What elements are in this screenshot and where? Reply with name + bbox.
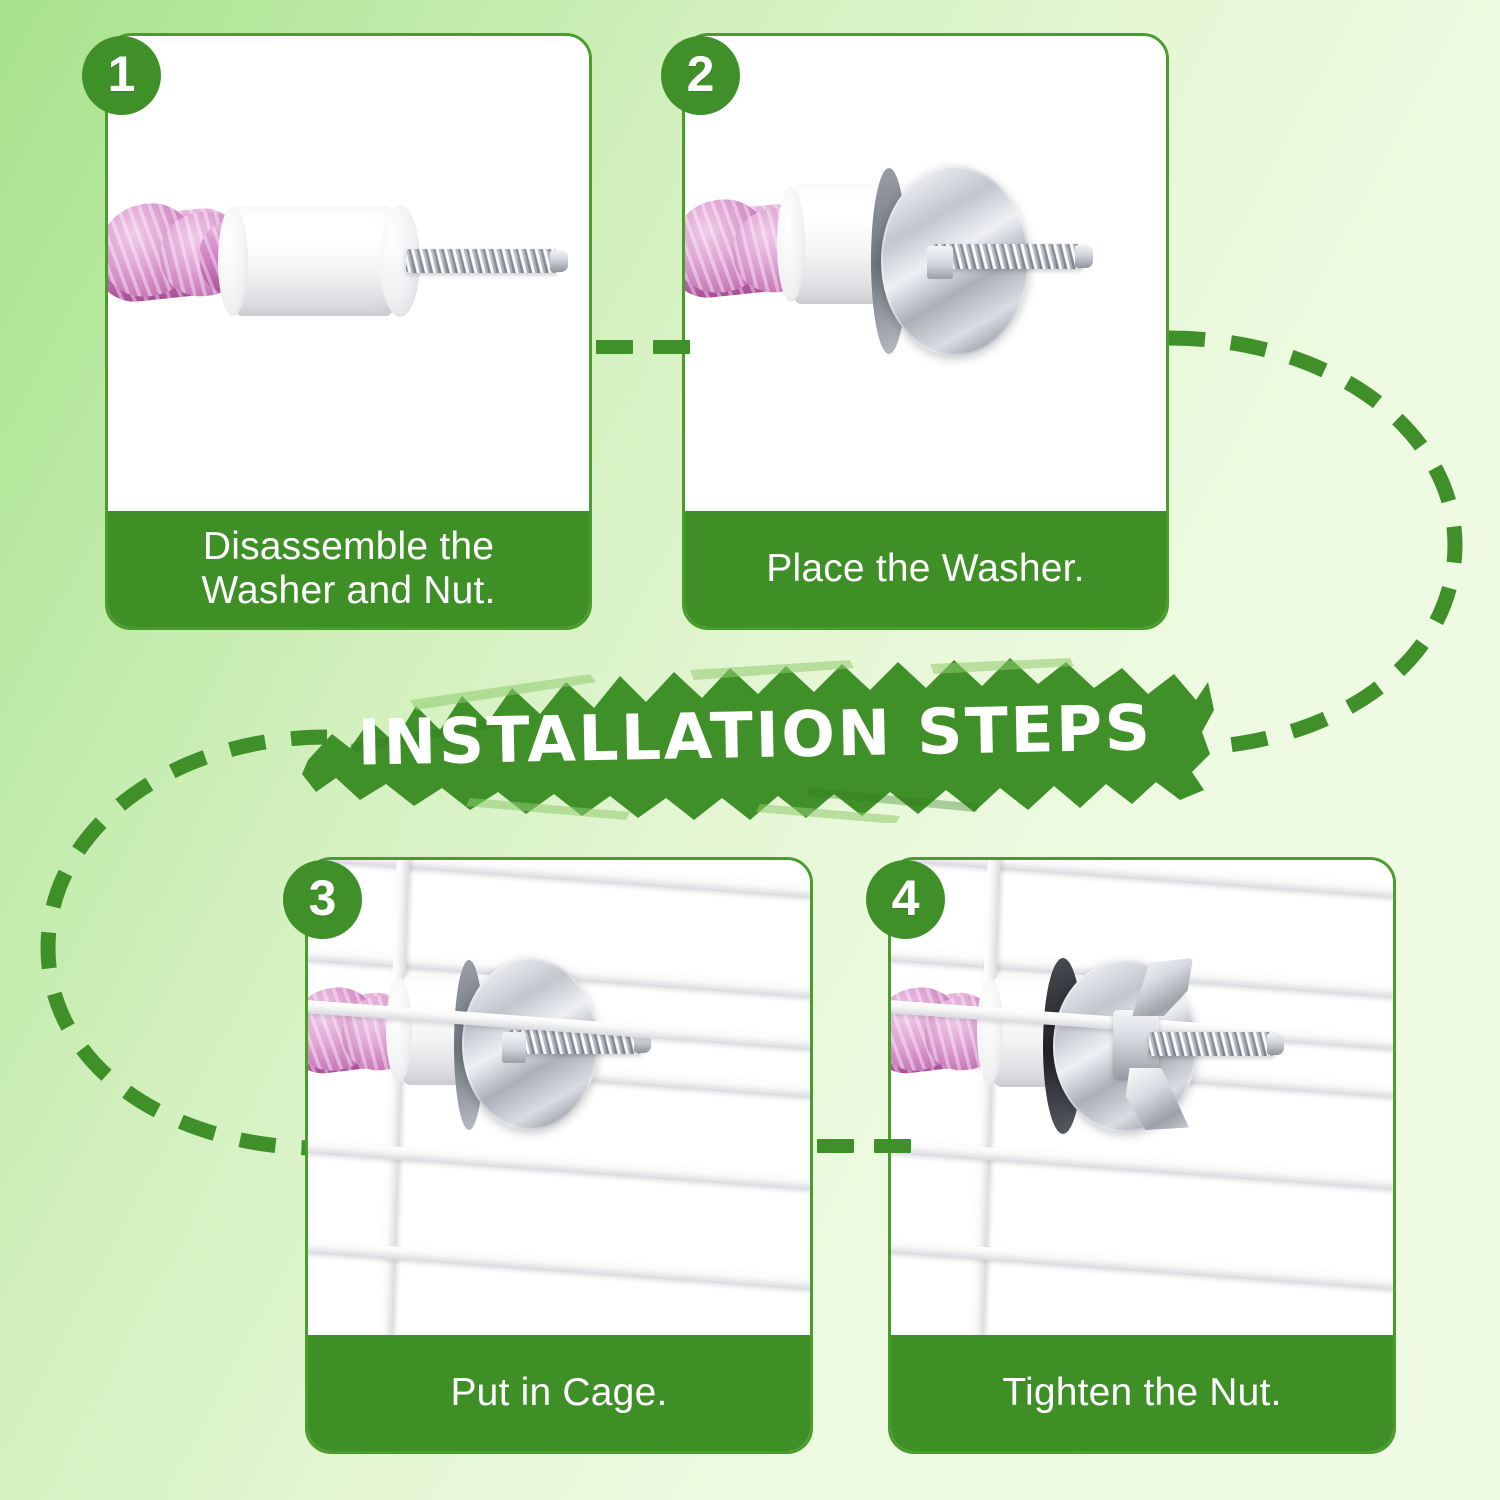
step-4-illustration [891,860,1393,1335]
cage-bar-vertical [970,860,1002,1335]
bushing-left-cap [218,206,248,316]
step-3-caption: Put in Cage. [308,1335,810,1451]
installation-steps-infographic: Disassemble the Washer and Nut. 1 Place … [0,0,1500,1500]
dash-segment [874,1139,911,1153]
step-1-caption: Disassemble the Washer and Nut. [108,511,589,627]
screw-tip [550,250,568,272]
step-card-3: Put in Cage. [305,857,813,1454]
screw-tip [1267,1033,1284,1055]
cage-bar-front [891,1237,1393,1295]
step-1-illustration [108,36,589,511]
dash-segment [653,340,690,354]
threaded-screw [933,244,1083,269]
cage-bar [308,860,810,904]
bushing-left-cap [977,978,1003,1084]
step-3-illustration [308,860,810,1335]
threaded-screw [1149,1032,1275,1056]
step-4-caption: Tighten the Nut. [891,1335,1393,1451]
dash-connector-step3-step4 [817,1139,911,1153]
arc-left [48,737,327,1148]
step-card-1: Disassemble the Washer and Nut. [105,33,592,630]
step-badge-2: 2 [661,36,740,115]
screw-shoulder [502,1032,526,1063]
step-card-4: Tighten the Nut. [888,857,1396,1454]
dash-segment [596,340,633,354]
dash-segment [817,1139,854,1153]
step-badge-4: 4 [866,860,945,939]
bushing-left-cap [386,978,412,1082]
step-card-2: Place the Washer. [682,33,1169,630]
threaded-screw [406,249,558,273]
title-brush-banner: INSTALLATION STEPS [290,648,1220,823]
step-badge-3: 3 [283,860,362,939]
cage-bar-front [308,1137,810,1195]
cage-bar-vertical [379,860,411,1335]
dash-connector-step1-step2 [596,340,690,354]
screw-tip [1075,245,1093,268]
step-2-illustration [685,36,1166,511]
step-badge-1: 1 [82,36,161,115]
cage-bar-front [891,1137,1393,1195]
cage-bar [891,860,1393,904]
step-2-caption: Place the Washer. [685,511,1166,627]
screw-shoulder [927,246,953,279]
bushing-left-cap [777,186,805,302]
page-title: INSTALLATION STEPS [288,639,1221,832]
white-bushing [228,206,400,316]
